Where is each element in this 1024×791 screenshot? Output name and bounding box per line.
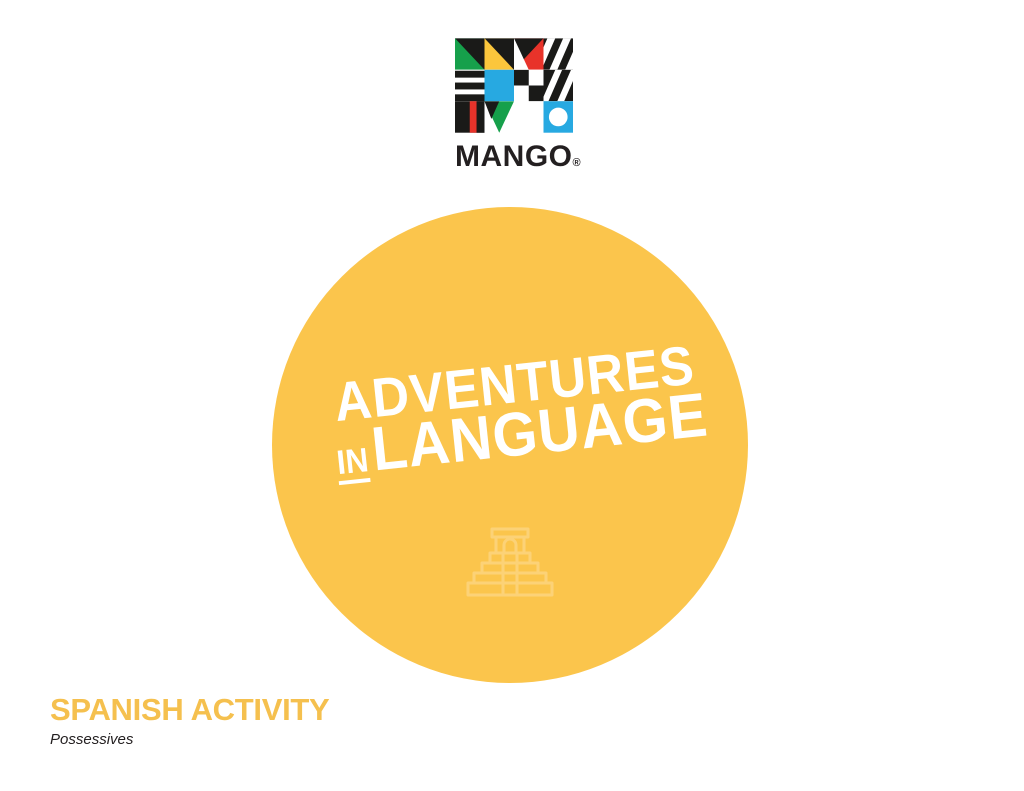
mango-logo-svg (455, 38, 573, 133)
mango-wordmark: MANGO® (455, 142, 573, 172)
badge-title-in: IN (335, 444, 370, 485)
logo-tile-r2c3 (514, 70, 544, 101)
wordmark-text: MANGO (455, 140, 573, 173)
registered-trademark-icon: ® (573, 157, 581, 169)
logo-tile-r3c4 (544, 101, 574, 132)
mango-flag-grid-logo (455, 38, 573, 133)
mayan-pyramid-svg (464, 525, 556, 603)
logo-tile-r2c2 (485, 70, 515, 101)
badge-title-block: ADVENTURES INLANGUAGE (266, 333, 754, 522)
adventures-in-language-badge: ADVENTURES INLANGUAGE (272, 207, 748, 683)
activity-subtitle: Possessives (50, 732, 550, 749)
logo-tile-r2c4 (542, 70, 573, 101)
logo-tile-r3c1 (455, 101, 485, 132)
logo-tile-r2c1 (455, 70, 485, 101)
logo-tile-r1c1 (455, 38, 485, 69)
activity-footer: SPANISH ACTIVITY Possessives (50, 694, 550, 748)
logo-tile-r3c2 (485, 101, 515, 132)
mayan-pyramid-icon (464, 525, 556, 603)
mango-brand-logo: MANGO® (455, 38, 573, 172)
activity-heading: SPANISH ACTIVITY (50, 694, 550, 727)
